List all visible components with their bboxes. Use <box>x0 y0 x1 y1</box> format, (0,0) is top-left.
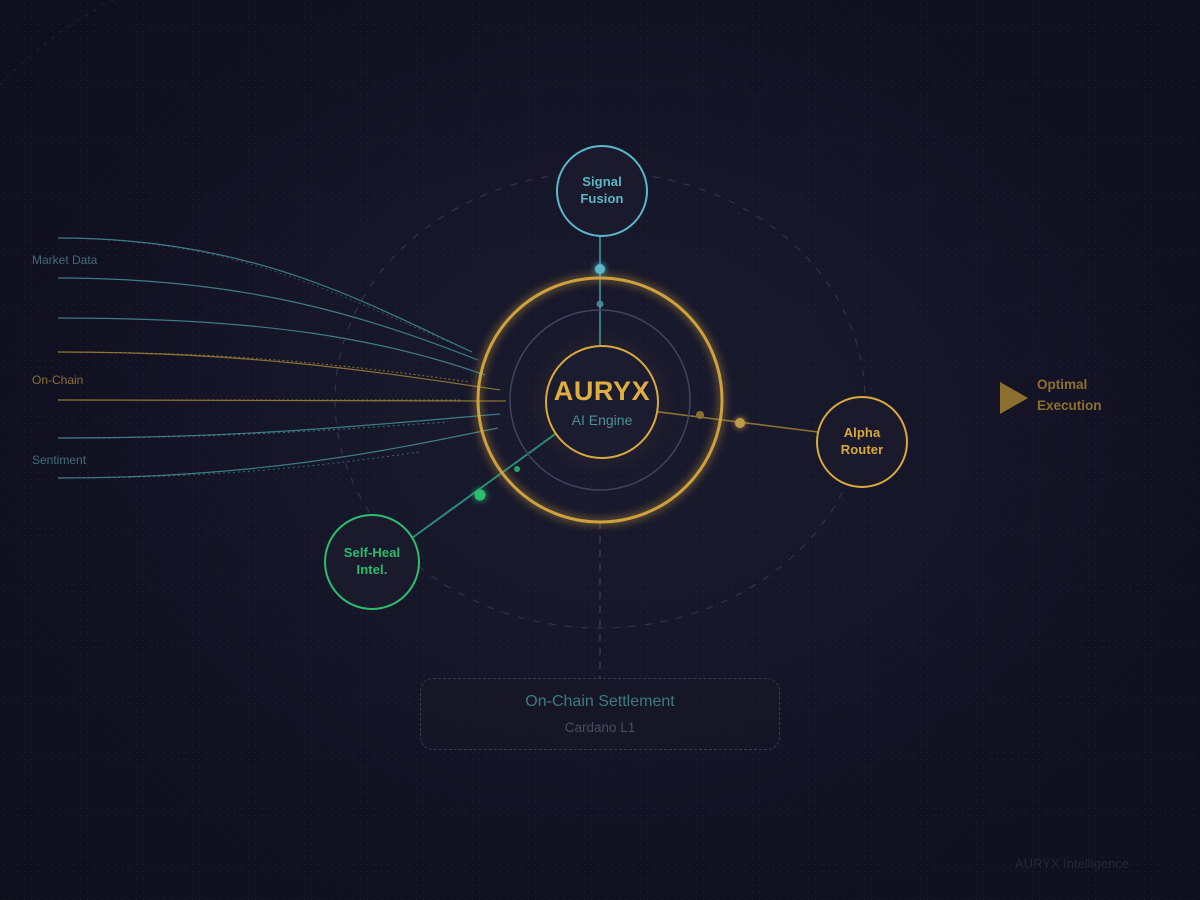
stream-label-on-chain: On-Chain <box>32 373 83 387</box>
node-alpha-router-line1: Alpha <box>844 425 881 442</box>
settlement-subtitle: Cardano L1 <box>565 721 636 735</box>
stream-label-market-data: Market Data <box>32 253 97 267</box>
node-signal-fusion[interactable]: Signal Fusion <box>556 145 648 237</box>
output-label-line1: Optimal <box>1037 375 1102 396</box>
diagram-canvas: AURYX AI Engine Signal Fusion Alpha Rout… <box>0 0 1200 900</box>
output-label-line2: Execution <box>1037 396 1102 417</box>
flow-dot-green-dim <box>514 466 520 472</box>
node-self-heal-line1: Self-Heal <box>344 545 401 562</box>
play-triangle-icon <box>1000 382 1028 414</box>
settlement-box[interactable]: On-Chain Settlement Cardano L1 <box>420 678 780 750</box>
flow-dot-green-bright <box>475 490 486 501</box>
node-self-heal-line2: Intel. <box>357 562 388 579</box>
node-alpha-router[interactable]: Alpha Router <box>816 396 908 488</box>
flow-dot-cyan-dim <box>597 301 604 308</box>
hub-core-node[interactable]: AURYX AI Engine <box>545 345 659 459</box>
watermark: AURYX Intelligence <box>1015 856 1129 871</box>
hub-title: AURYX <box>554 378 651 405</box>
flow-dot-gold-bright <box>735 418 745 428</box>
hub-subtitle: AI Engine <box>572 413 633 427</box>
input-stream-lines <box>58 238 506 478</box>
node-signal-fusion-line1: Signal <box>582 174 622 191</box>
settlement-title: On-Chain Settlement <box>525 694 674 710</box>
corner-arc-decoration <box>0 0 230 130</box>
output-label: Optimal Execution <box>1037 375 1102 417</box>
flow-dot-cyan-bright <box>595 264 605 274</box>
connector-hub-to-self-heal <box>412 432 558 538</box>
node-alpha-router-line2: Router <box>841 442 884 459</box>
node-signal-fusion-line2: Fusion <box>580 191 623 208</box>
stream-label-sentiment: Sentiment <box>32 453 86 467</box>
node-self-heal-intel[interactable]: Self-Heal Intel. <box>324 514 420 610</box>
flow-dot-gold-dim <box>696 411 704 419</box>
